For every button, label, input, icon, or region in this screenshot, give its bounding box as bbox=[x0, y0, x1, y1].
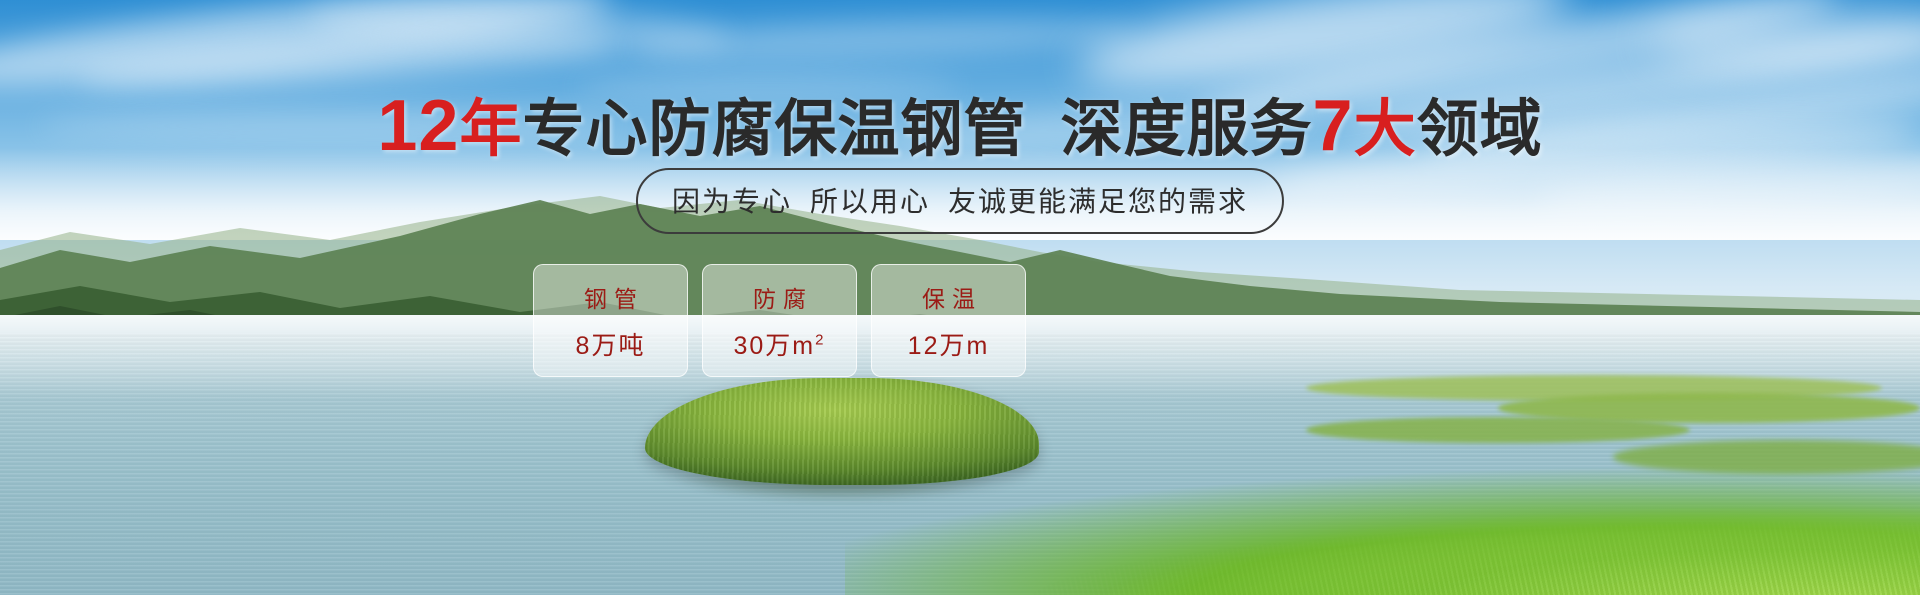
stat-card-value: 8万吨 bbox=[576, 326, 646, 362]
stat-card-anticorrosion[interactable]: 防腐 30万m2 bbox=[702, 264, 857, 377]
stat-card-value: 12万m bbox=[908, 326, 990, 362]
stat-card-title: 钢管 bbox=[577, 280, 644, 314]
headline-segment-service: 深度服务 bbox=[1061, 95, 1313, 164]
stat-card-value: 30万m2 bbox=[734, 326, 826, 362]
headline-fields-number: 7 bbox=[1313, 86, 1354, 166]
headline-years-unit: 年 bbox=[459, 95, 522, 164]
hero-banner: 12年专心防腐保温钢管深度服务7大领域 因为专心所以用心友诚更能满足您的需求 钢… bbox=[0, 0, 1920, 595]
stat-card-steel-pipe[interactable]: 钢管 8万吨 bbox=[533, 264, 688, 377]
stat-card-value-superscript: 2 bbox=[815, 331, 825, 348]
stat-card-title: 防腐 bbox=[746, 280, 813, 314]
stat-card-title: 保温 bbox=[915, 280, 982, 314]
grass-blade-texture bbox=[960, 476, 1920, 595]
headline: 12年专心防腐保温钢管深度服务7大领域 bbox=[0, 78, 1920, 168]
subtitle-pill: 因为专心所以用心友诚更能满足您的需求 bbox=[636, 168, 1284, 234]
headline-years-number: 12 bbox=[377, 86, 459, 166]
headline-segment-focus: 专心防腐保温钢管 bbox=[523, 95, 1027, 164]
subtitle-segment-1: 因为专心 bbox=[672, 186, 792, 217]
headline-segment-fields: 领域 bbox=[1417, 95, 1543, 164]
stat-card-value-text: 30万m bbox=[734, 332, 816, 360]
headline-fields-unit: 大 bbox=[1354, 95, 1417, 164]
subtitle-segment-3: 友诚更能满足您的需求 bbox=[948, 186, 1248, 217]
stat-card-value-text: 12万m bbox=[908, 332, 990, 360]
stat-card-insulation[interactable]: 保温 12万m bbox=[871, 264, 1026, 377]
stat-card-group: 钢管 8万吨 防腐 30万m2 保温 12万m bbox=[533, 264, 1026, 377]
subtitle-segment-2: 所以用心 bbox=[810, 186, 930, 217]
stat-card-value-text: 8万吨 bbox=[576, 332, 646, 360]
